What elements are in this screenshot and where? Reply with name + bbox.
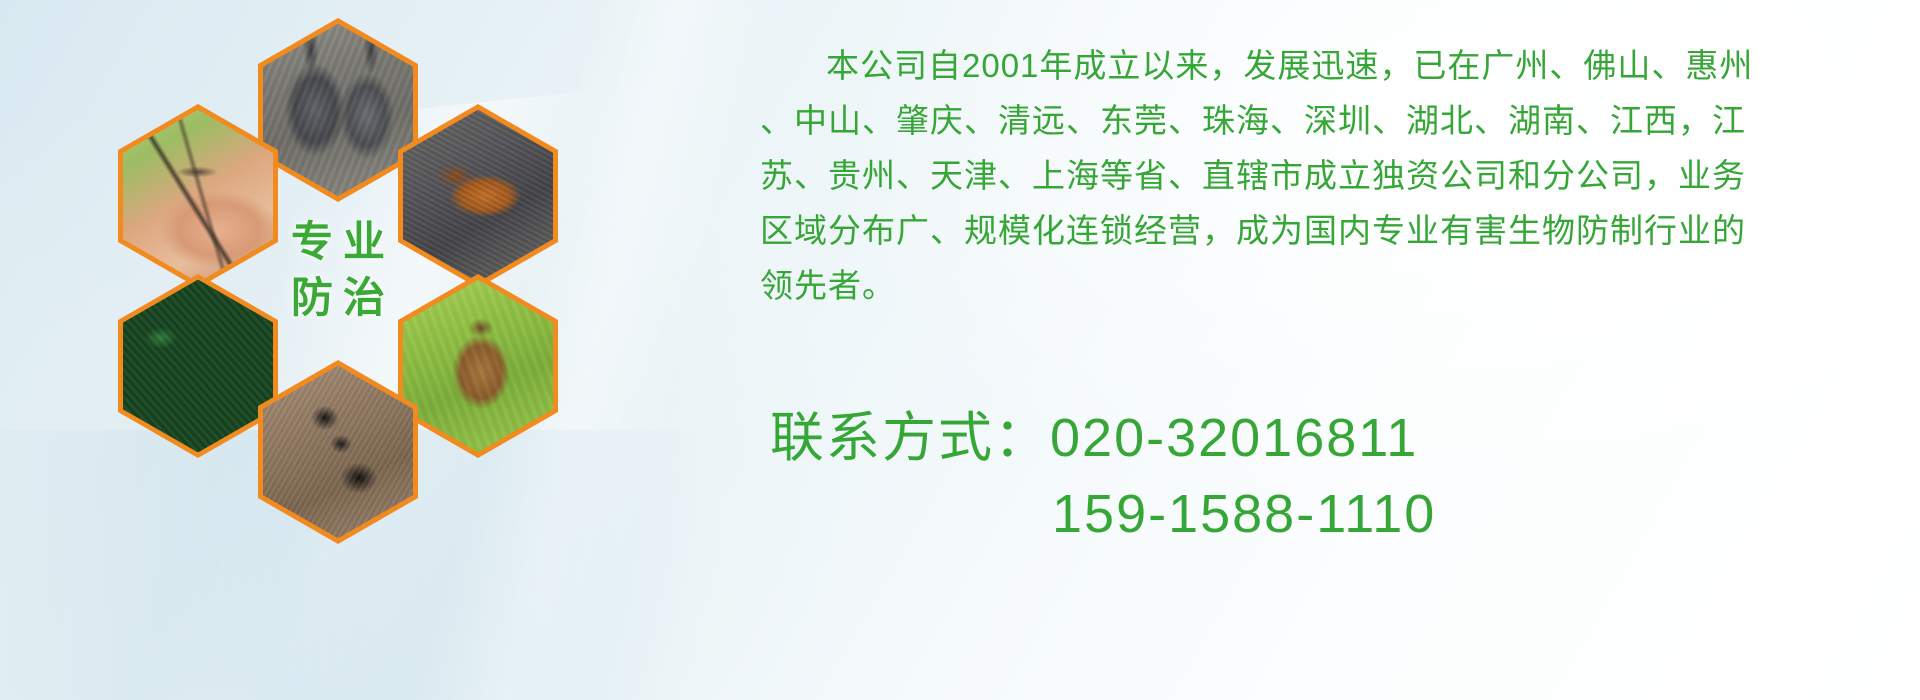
hexagon-photo-cluster: 专业 防治 (90, 10, 590, 570)
cockroach-photo (403, 110, 553, 283)
ant-photo (263, 366, 413, 539)
company-intro-banner: 专业 防治 本公司自2001年成立以来，发展迅速，已在广州、佛山、惠州 、中山、… (0, 0, 1920, 700)
hex-badge-line-1: 专业 (281, 221, 395, 263)
mosquito-photo (123, 110, 273, 283)
stink-bug-photo (403, 280, 553, 453)
description-line: 苏、贵州、天津、上海等省、直辖市成立独资公司和分公司，业务 (760, 148, 1880, 203)
flies-photo (123, 280, 273, 453)
hex-badge-line-2: 防治 (281, 277, 395, 319)
hex-photo-ant (258, 360, 418, 544)
hex-photo-rats (258, 18, 418, 202)
description-line: 、中山、肇庆、清远、东莞、珠海、深圳、湖北、湖南、江西，江 (760, 93, 1880, 148)
rats-photo (263, 24, 413, 197)
hex-photo-stink-bug (398, 274, 558, 458)
description-line: 领先者。 (760, 258, 1880, 313)
contact-phone-primary[interactable]: 联系方式：020-32016811 (770, 400, 1436, 476)
hex-badge-text: 专业 防治 (258, 178, 418, 362)
contact-block: 联系方式：020-32016811 159-1588-1110 (770, 400, 1436, 552)
description-line: 区域分布广、规模化连锁经营，成为国内专业有害生物防制行业的 (760, 203, 1880, 258)
hex-photo-flies (118, 274, 278, 458)
hex-photo-cockroach (398, 104, 558, 288)
hex-photo-mosquito (118, 104, 278, 288)
description-line: 本公司自2001年成立以来，发展迅速，已在广州、佛山、惠州 (760, 38, 1880, 93)
contact-phone-secondary[interactable]: 159-1588-1110 (770, 476, 1436, 552)
company-description: 本公司自2001年成立以来，发展迅速，已在广州、佛山、惠州 、中山、肇庆、清远、… (760, 38, 1880, 313)
